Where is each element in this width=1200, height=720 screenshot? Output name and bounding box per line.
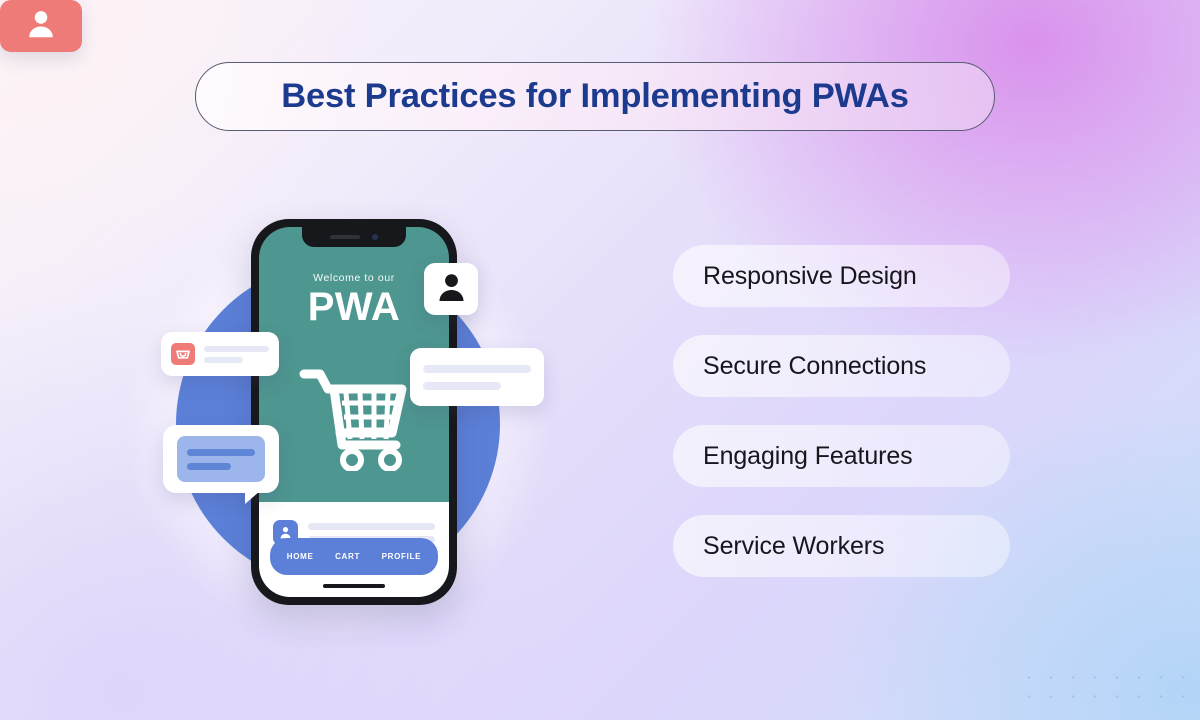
best-practices-list: Responsive Design Secure Connections Eng… [673,245,1010,577]
basket-placeholder-lines [204,346,269,363]
phone-screen: Welcome to our PWA [259,227,449,597]
list-item-label: Secure Connections [703,352,926,381]
speaker-grille-icon [330,235,360,238]
placeholder-line [204,346,269,352]
list-item[interactable]: Engaging Features [673,425,1010,487]
placeholder-line [423,365,531,373]
placeholder-line [187,449,255,456]
placeholder-line [308,523,435,530]
basket-notification-card [161,332,279,376]
list-item-label: Service Workers [703,532,884,561]
home-indicator [323,584,385,588]
dot-grid-decoration [1018,668,1194,712]
app-name-text: PWA [259,285,449,330]
list-item-label: Engaging Features [703,442,913,471]
phone-tabbar[interactable]: HOME CART PROFILE [270,538,438,575]
list-item[interactable]: Secure Connections [673,335,1010,397]
message-lines-card [410,348,544,406]
phone-notch [302,227,406,247]
placeholder-line [204,357,243,363]
tab-profile[interactable]: PROFILE [382,552,422,561]
list-item[interactable]: Responsive Design [673,245,1010,307]
welcome-text: Welcome to our [259,272,449,284]
person-icon [438,272,465,307]
front-camera-icon [372,234,377,239]
page-title-pill: Best Practices for Implementing PWAs [195,62,995,131]
shopping-basket-icon [171,343,195,365]
phone-content-sheet: HOME CART PROFILE [259,502,449,597]
person-icon [28,9,54,43]
tab-home[interactable]: HOME [287,552,314,561]
avatar-card-red [0,0,82,52]
avatar-card-dark [424,263,478,315]
placeholder-line [423,382,501,390]
shopping-cart-icon [298,367,410,476]
chat-bubble-inner [177,436,265,482]
tab-cart[interactable]: CART [335,552,360,561]
page-title: Best Practices for Implementing PWAs [281,77,908,116]
chat-bubble-tail-icon [245,491,260,504]
chat-bubble-card [163,425,279,493]
placeholder-line [187,463,231,470]
list-item[interactable]: Service Workers [673,515,1010,577]
list-item-label: Responsive Design [703,262,917,291]
